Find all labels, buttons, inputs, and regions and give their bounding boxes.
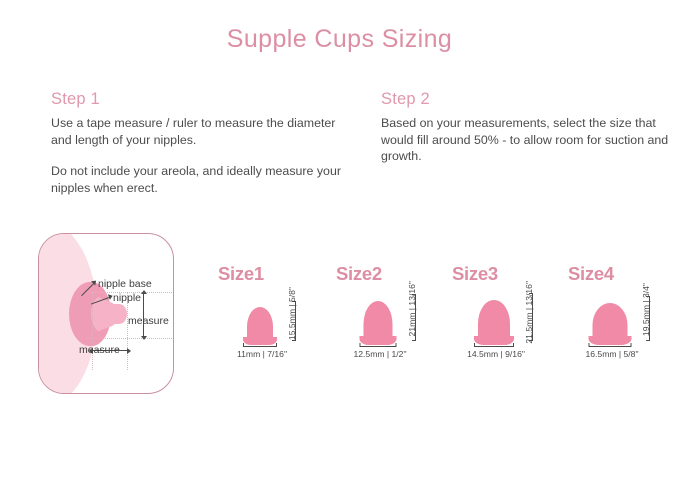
size-option-2[interactable]: Size2 12.5mm | 1/2" 21mm | 13/16" — [328, 263, 448, 363]
nipple-anatomy-diagram — [38, 233, 174, 394]
step-1-heading: Step 1 — [51, 90, 341, 109]
cup-dome-icon — [478, 300, 510, 341]
size-option-1[interactable]: Size1 11mm | 7/16" 15.5mm | 5/8" — [210, 263, 330, 363]
size-2-height-label: 21mm | 13/16" — [407, 281, 417, 336]
step-2-heading: Step 2 — [381, 90, 671, 109]
size-3-height-label: 21.5mm | 13/16" — [524, 281, 534, 344]
page-title: Supple Cups Sizing — [0, 25, 679, 54]
cup-dome-icon — [247, 307, 273, 341]
cup-dome-icon — [364, 301, 393, 341]
nipple-tip-shape — [111, 304, 127, 324]
size-2-width-label: 12.5mm | 1/2" — [328, 349, 432, 359]
step-1-paragraph-2: Do not include your areola, and ideally … — [51, 163, 341, 196]
step-2-paragraph-1: Based on your measurements, select the s… — [381, 115, 671, 165]
guide-line-bottom — [85, 338, 174, 339]
size-option-4[interactable]: Size4 16.5mm | 5/8" 19.5mm | 3/4" — [560, 263, 679, 363]
size-4-cup-graphic — [580, 289, 640, 345]
size-3-width-label: 14.5mm | 9/16" — [444, 349, 548, 359]
size-4-title: Size4 — [568, 263, 614, 285]
step-2-block: Step 2 Based on your measurements, selec… — [381, 90, 671, 165]
size-1-width-label: 11mm | 7/16" — [210, 349, 314, 359]
step-1-block: Step 1 Use a tape measure / ruler to mea… — [51, 90, 341, 196]
label-nipple: nipple — [113, 292, 141, 304]
size-2-width-dimension-icon — [360, 343, 397, 347]
size-1-title: Size1 — [218, 263, 264, 285]
size-3-width-dimension-icon — [474, 343, 514, 347]
size-4-width-label: 16.5mm | 5/8" — [560, 349, 664, 359]
size-1-height-label: 15.5mm | 5/8" — [287, 287, 297, 340]
size-option-3[interactable]: Size3 14.5mm | 9/16" 21.5mm | 13/16" — [444, 263, 564, 363]
size-4-height-label: 19.5mm | 3/4" — [641, 283, 651, 336]
size-2-title: Size2 — [336, 263, 382, 285]
step-1-paragraph-1: Use a tape measure / ruler to measure th… — [51, 115, 341, 148]
size-2-cup-graphic — [348, 289, 408, 345]
size-3-cup-graphic — [464, 289, 524, 345]
size-3-title: Size3 — [452, 263, 498, 285]
size-4-width-dimension-icon — [589, 343, 632, 347]
size-1-width-dimension-icon — [243, 343, 277, 347]
label-nipple-base: nipple base — [98, 278, 152, 290]
label-measure-vertical: measure — [128, 315, 169, 327]
label-measure-horizontal: measure — [79, 344, 120, 356]
size-1-cup-graphic — [230, 289, 290, 345]
